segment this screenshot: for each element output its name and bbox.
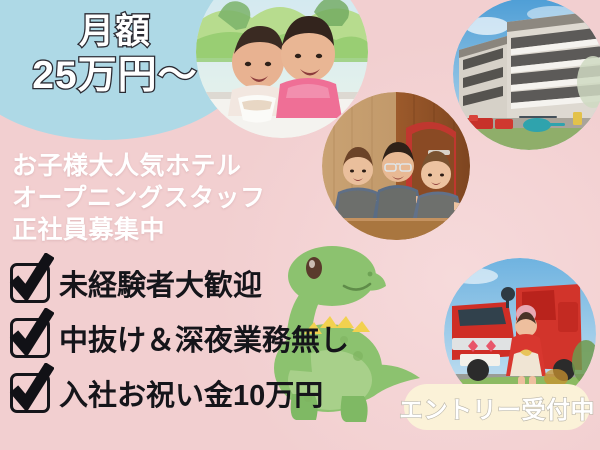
photo-hotel-building xyxy=(453,0,600,150)
checklist-label-3: 入社お祝い金10万円 xyxy=(59,372,323,414)
salary-line-1: 月額 xyxy=(0,14,230,50)
checklist-item-1: 未経験者大歓迎 xyxy=(10,255,349,310)
checklist-label-2: 中抜け＆深夜業務無し xyxy=(59,317,349,359)
photo-staff-team xyxy=(322,92,470,240)
headline-line-3: 正社員募集中 xyxy=(12,214,266,246)
entry-status-badge[interactable]: エントリー受付中 xyxy=(404,384,590,430)
job-advertisement-poster: 月額 25万円〜 xyxy=(0,0,600,450)
headline-line-1: お子様大人気ホテル xyxy=(12,150,266,182)
headline-block: お子様大人気ホテル オープニングスタッフ 正社員募集中 xyxy=(12,150,266,246)
headline-line-2: オープニングスタッフ xyxy=(12,182,266,214)
checklist-label-1: 未経験者大歓迎 xyxy=(59,262,262,304)
checklist-item-3: 入社お祝い金10万円 xyxy=(10,365,349,420)
checkbox-checked-icon xyxy=(10,373,50,413)
checkbox-checked-icon xyxy=(10,318,50,358)
checkbox-checked-icon xyxy=(10,263,50,303)
checklist-item-2: 中抜け＆深夜業務無し xyxy=(10,310,349,365)
entry-badge-label: エントリー受付中 xyxy=(399,390,595,425)
salary-line-2: 25万円〜 xyxy=(0,56,230,96)
salary-badge-text: 月額 25万円〜 xyxy=(0,14,230,95)
benefits-checklist: 未経験者大歓迎 中抜け＆深夜業務無し 入社お祝い金10万円 xyxy=(10,255,349,420)
